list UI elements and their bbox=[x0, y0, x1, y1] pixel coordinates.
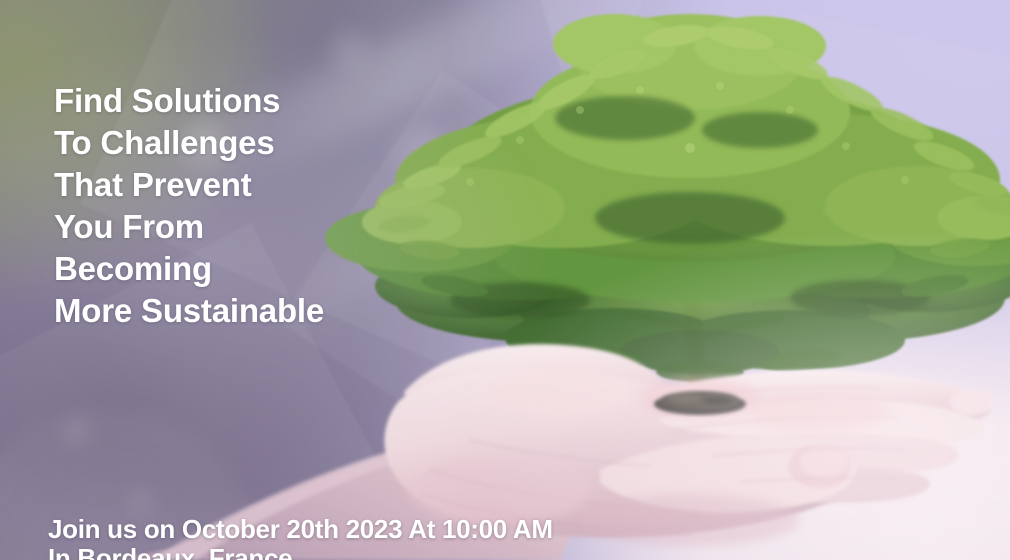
event-poster: Find Solutions To Challenges That Preven… bbox=[0, 0, 1010, 560]
event-location: In Bordeaux, France bbox=[48, 544, 553, 560]
event-datetime: Join us on October 20th 2023 At 10:00 AM bbox=[48, 515, 553, 544]
page-title: Find Solutions To Challenges That Preven… bbox=[54, 80, 324, 332]
event-details: Join us on October 20th 2023 At 10:00 AM… bbox=[48, 515, 553, 560]
